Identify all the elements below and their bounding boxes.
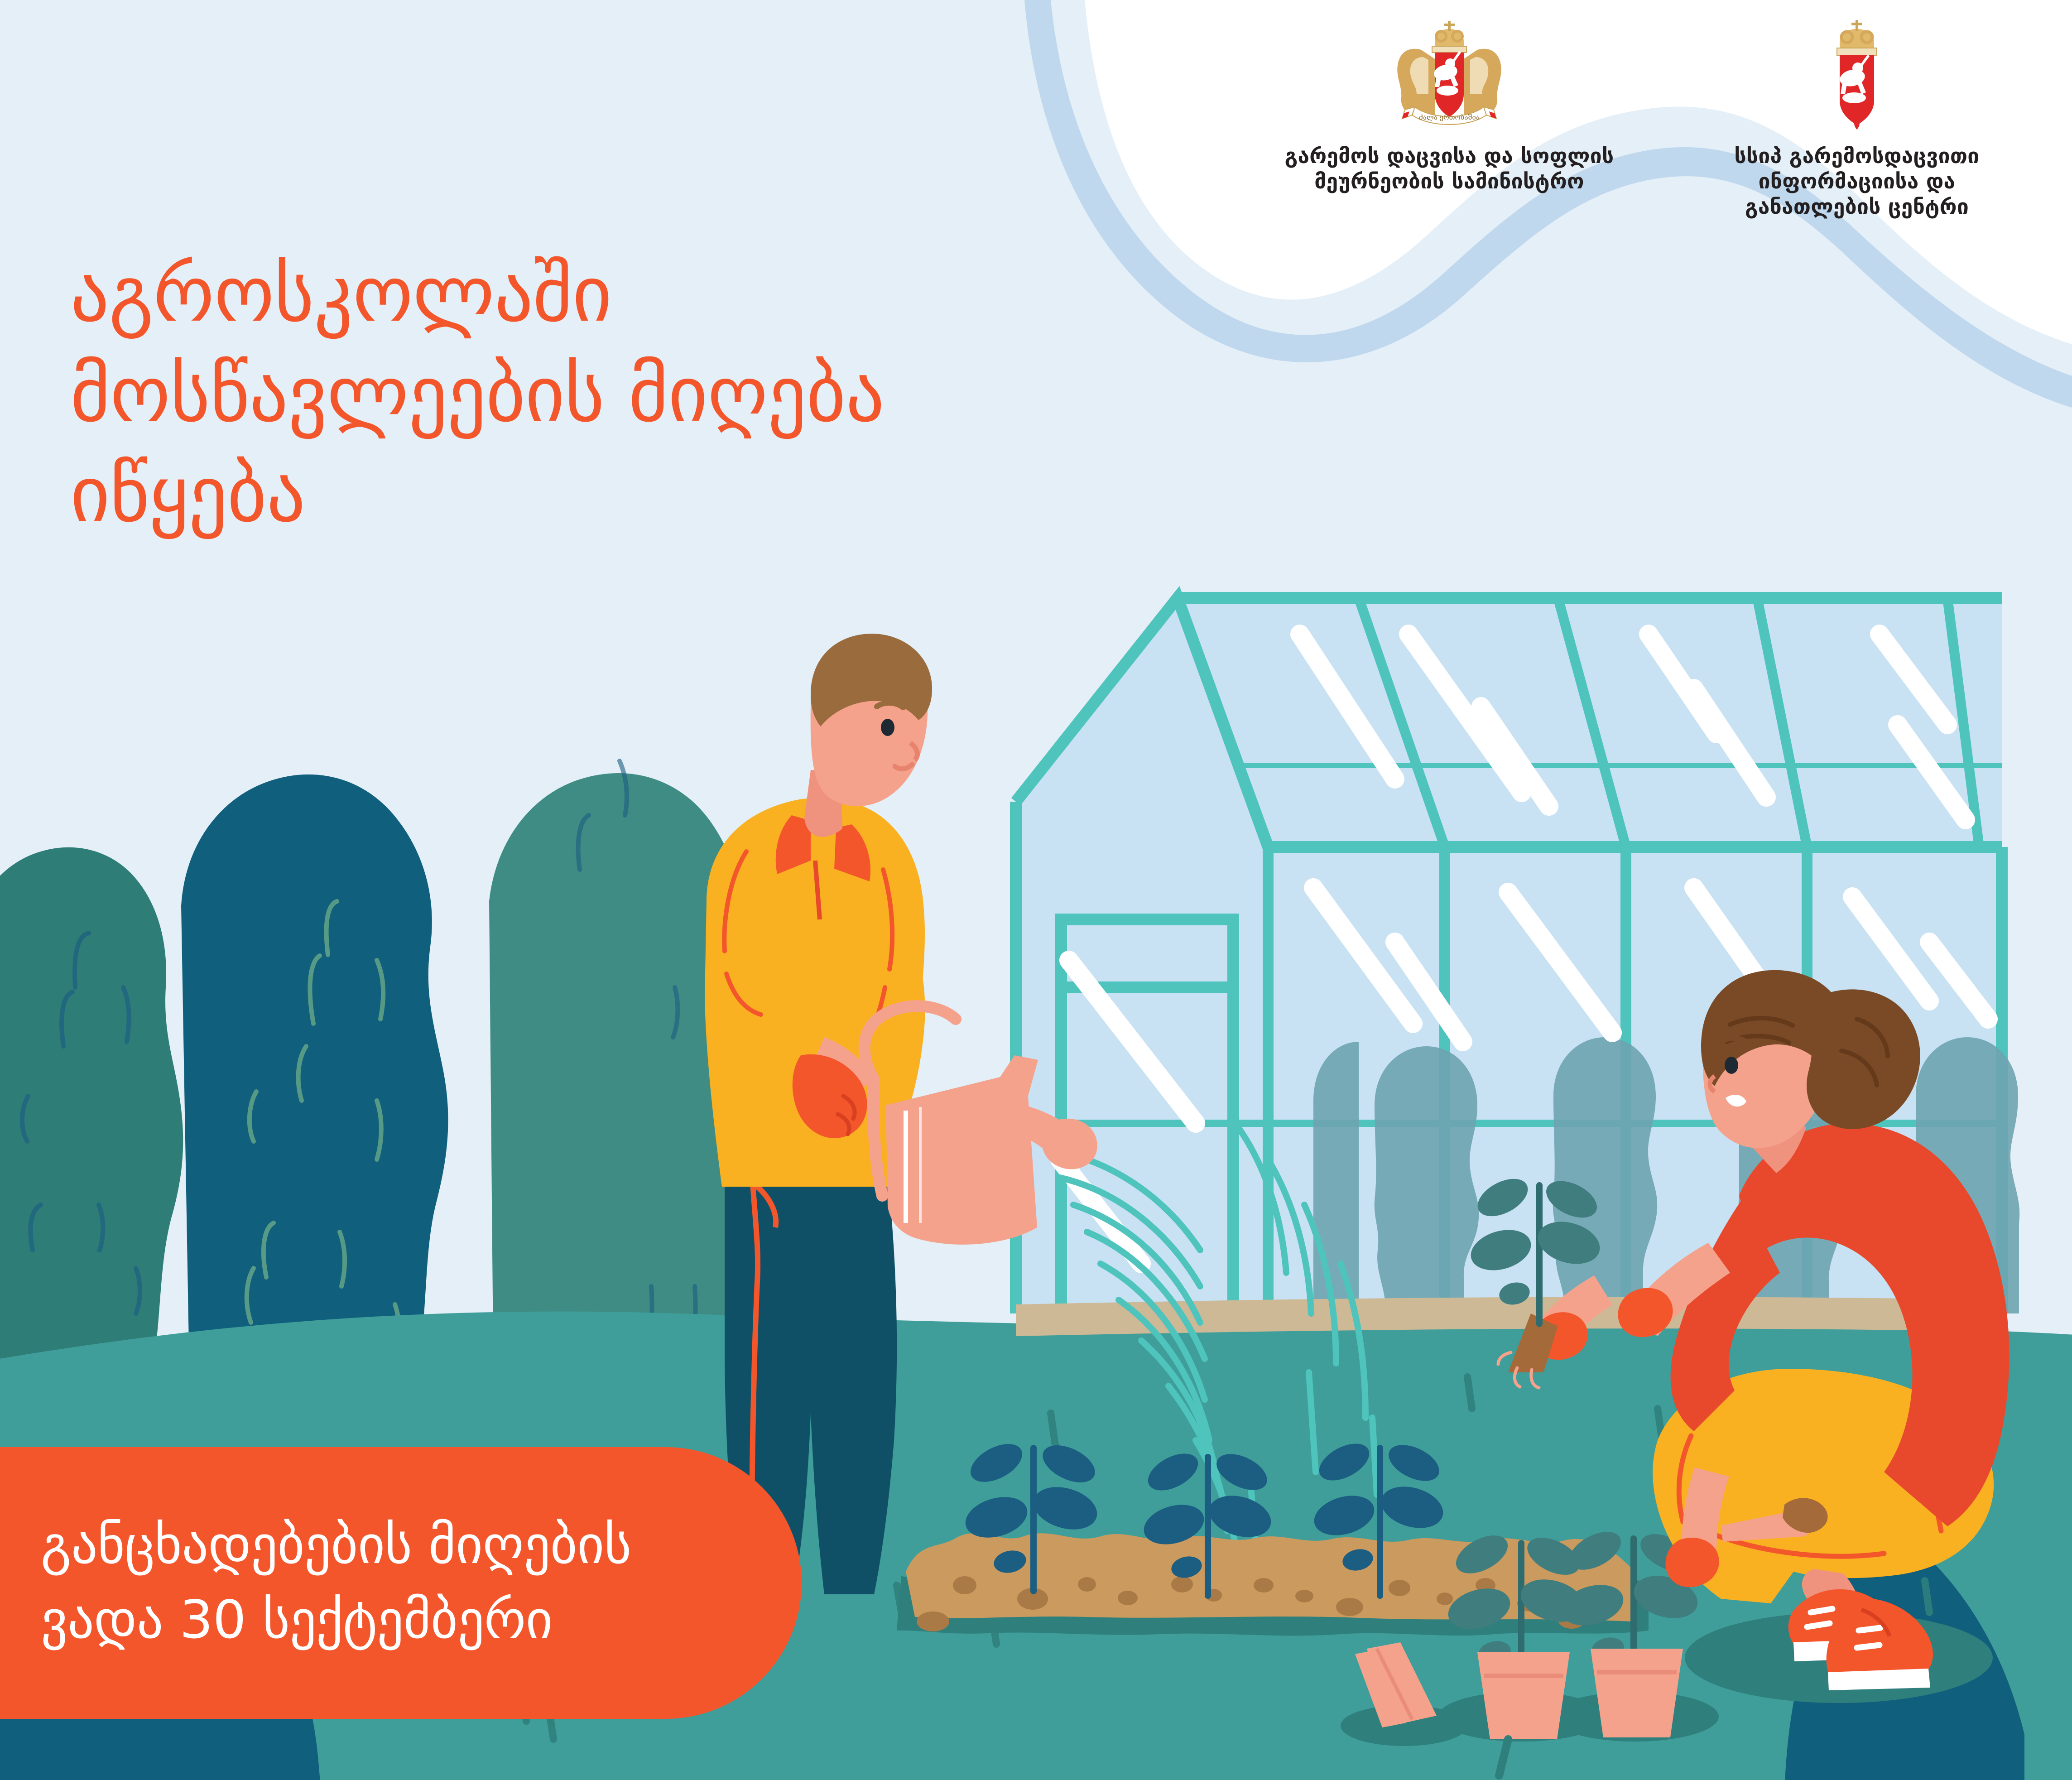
ministry-logo-block: ძალა ერთობაშია გარემოს დაცვისა და სოფლის…	[1255, 18, 1644, 194]
ministry-logo-caption: გარემოს დაცვისა და სოფლის მეურნეობის სამ…	[1255, 143, 1644, 194]
deadline-line-1: განცხადებების მიღების	[41, 1508, 747, 1583]
georgia-coat-of-arms-shield-icon	[1816, 18, 1898, 131]
deadline-banner: განცხადებების მიღების ვადა 30 სექტემბერი	[0, 1447, 802, 1719]
tree-1	[0, 847, 183, 1402]
deadline-line-2: ვადა 30 სექტემბერი	[41, 1583, 747, 1658]
centre-logo-caption: სსიპ გარემოსდაცვითი ინფორმაციისა და განა…	[1676, 143, 2038, 219]
centre-logo-block: სსიპ გარემოსდაცვითი ინფორმაციისა და განა…	[1676, 18, 2038, 219]
woman-eye	[1725, 1057, 1738, 1074]
poster-root: ძალა ერთობაშია გარემოს დაცვისა და სოფლის…	[0, 0, 2072, 1780]
svg-text:ძალა ერთობაშია: ძალა ერთობაშია	[1419, 113, 1480, 121]
flower-pot	[1477, 1652, 1570, 1739]
georgia-coat-of-arms-full-icon: ძალა ერთობაშია	[1381, 18, 1517, 131]
man-eye	[881, 719, 894, 736]
page-title: აგროსკოლაში მოსწავლეების მიღება იწყება	[70, 245, 1293, 545]
flower-pot	[1591, 1649, 1683, 1737]
